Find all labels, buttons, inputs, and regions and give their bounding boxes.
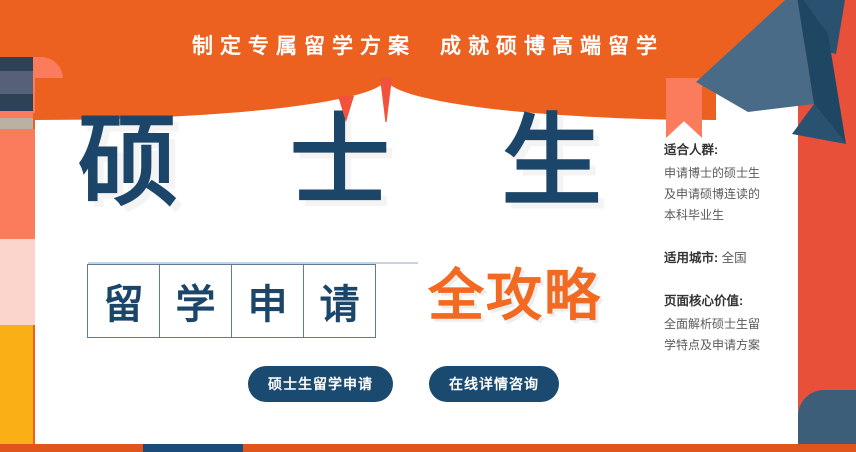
boxed-char: 申 [231,264,304,338]
boxed-char: 请 [303,264,376,338]
page-title: 硕 士 生 [78,112,644,212]
info-city-value: 全国 [722,251,747,265]
boxed-char: 留 [87,264,160,338]
decor-right-navy-corner [798,390,856,452]
slogan-left: 制定专属留学方案 [192,35,416,58]
decor-yellow-block [0,325,33,444]
info-audience-line: 申请博士的硕士生 [664,163,789,184]
info-audience: 适合人群: 申请博士的硕士生 及申请硕博连读的 本科毕业生 [664,140,789,226]
cta-group: 硕士生留学申请 在线详情咨询 [248,366,559,402]
info-core-value-heading: 页面核心价值: [664,291,789,312]
boxed-char: 学 [159,264,232,338]
header-slogan: 制定专属留学方案成就硕博高端留学 [0,30,856,60]
info-city-heading: 适用城市: [664,251,718,265]
info-core-value: 页面核心价值: 全面解析硕士生留 学特点及申请方案 [664,291,789,356]
decor-spine-bar-5 [0,118,33,129]
info-panel: 适合人群: 申请博士的硕士生 及申请硕博连读的 本科毕业生 适用城市: 全国 页… [664,140,789,378]
info-core-value-line: 全面解析硕士生留 [664,314,789,335]
decor-spine-bar-3 [0,94,33,111]
info-city: 适用城市: 全国 [664,248,789,269]
subtitle-emphasis: 全攻略 [428,268,602,324]
info-audience-line: 及申请硕博连读的 [664,184,789,205]
boxed-subtitle: 留 学 申 请 [88,264,376,338]
decor-pink-band [0,239,35,325]
promo-banner: 制定专属留学方案成就硕博高端留学 硕 士 生 留 学 申 请 全攻略 硕士生留学… [0,0,856,452]
apply-button[interactable]: 硕士生留学申请 [248,366,393,402]
slogan-right: 成就硕博高端留学 [440,35,664,58]
info-audience-heading: 适合人群: [664,140,789,161]
paper-plane-icon [696,0,846,144]
decor-spine-bar-4 [0,111,33,118]
info-audience-line: 本科毕业生 [664,205,789,226]
footer-strip [0,444,856,452]
info-core-value-line: 学特点及申请方案 [664,335,789,356]
footer-strip-accent [143,444,243,452]
info-city-row: 适用城市: 全国 [664,251,747,265]
decor-spine-bar-2 [0,71,33,94]
consult-button[interactable]: 在线详情咨询 [429,366,559,402]
